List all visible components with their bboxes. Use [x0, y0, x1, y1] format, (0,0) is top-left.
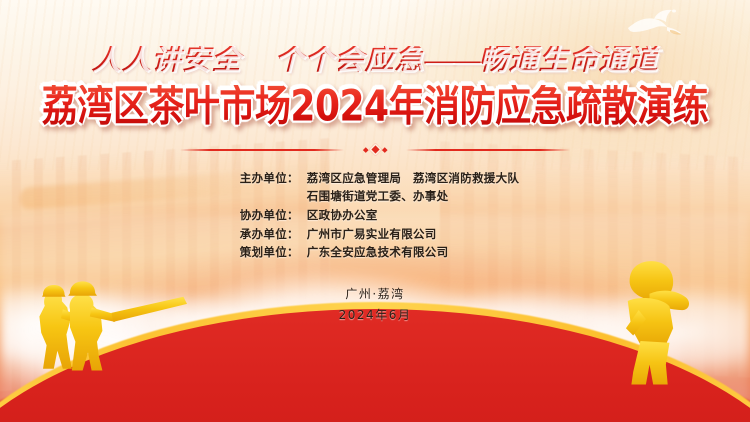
- decorative-divider: [180, 143, 570, 157]
- diamond-ornament-icon: [352, 143, 398, 157]
- organizer-row: 协办单位： 区政协办公室: [231, 206, 519, 225]
- divider-line-right: [406, 149, 570, 151]
- organizer-value: 广州市广易实业有限公司: [299, 225, 437, 244]
- organizer-label: 主办单位：: [231, 169, 299, 188]
- ornament-diamond: [369, 143, 382, 156]
- organizer-row: 承办单位： 广州市广易实业有限公司: [231, 225, 519, 244]
- subheadline-part2: 个个会应急: [274, 44, 424, 76]
- organizer-value: 荔湾区应急管理局 荔湾区消防救援大队: [299, 169, 519, 188]
- footer-place: 广州·荔湾: [339, 284, 412, 305]
- ornament-dot-left: [363, 147, 368, 152]
- subheadline-dash: ——: [425, 44, 479, 76]
- organizer-value: 广东全安应急技术有限公司: [299, 243, 449, 262]
- organizer-row-continuation: 主办单位： 石围塘街道党工委、办事处: [231, 187, 519, 206]
- ornament-dot-right: [382, 147, 387, 152]
- organizer-block: 主办单位： 荔湾区应急管理局 荔湾区消防救援大队 主办单位： 石围塘街道党工委、…: [231, 169, 519, 262]
- organizer-label: 承办单位：: [231, 225, 299, 244]
- organizer-label: 策划单位：: [231, 243, 299, 262]
- organizer-row: 策划单位： 广东全安应急技术有限公司: [231, 243, 519, 262]
- subheadline-part3: 畅通生命通道: [479, 44, 659, 76]
- organizer-row: 主办单位： 荔湾区应急管理局 荔湾区消防救援大队: [231, 169, 519, 188]
- subheadline-part1: 人人讲安全: [91, 44, 241, 76]
- poster-content: 人人讲安全 个个会应急——畅通生命通道 荔湾区茶叶市场2024年消防应急疏散演练…: [0, 0, 750, 422]
- divider-line-left: [180, 149, 344, 151]
- organizer-label: 协办单位：: [231, 206, 299, 225]
- poster-footer: 广州·荔湾 2024年6月: [339, 284, 412, 326]
- poster-main-title: 荔湾区茶叶市场2024年消防应急疏散演练: [42, 85, 708, 130]
- footer-date: 2024年6月: [339, 305, 412, 326]
- poster-subheadline: 人人讲安全 个个会应急——畅通生命通道: [91, 46, 658, 75]
- organizer-value: 区政协办公室: [299, 206, 378, 225]
- organizer-value-line2: 石围塘街道党工委、办事处: [299, 187, 449, 206]
- poster-canvas: 人人讲安全 个个会应急——畅通生命通道 荔湾区茶叶市场2024年消防应急疏散演练…: [0, 0, 750, 422]
